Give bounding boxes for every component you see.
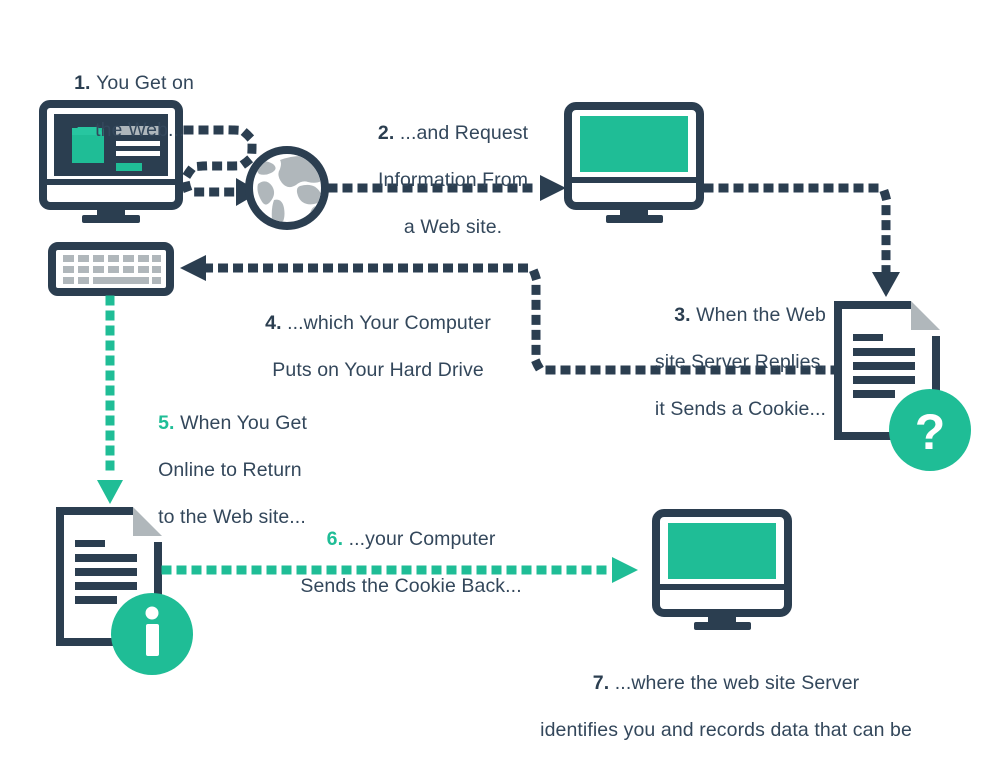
step-2-number: 2. [378,122,400,144]
step-7-number: 7. [593,672,615,694]
keyboard-icon [52,246,170,292]
step-2-line-1: ...and Request [400,122,528,144]
server-monitor-icon-top [568,106,700,223]
step-1-line-1: You Get on [96,72,194,94]
step-6-number: 6. [327,528,349,550]
flow-arrow-5-keyboard-to-cookie [97,300,123,504]
globe-internet-icon [249,150,328,228]
question-badge-label: ? [915,404,946,460]
step-5-number: 5. [158,412,180,434]
cookie-flow-diagram: ? [0,0,1000,762]
step-4-line-1: ...which Your Computer [287,312,491,334]
step-4-line-2: Puts on Your Hard Drive [272,359,484,381]
step-5-line-2: Online to Return [158,459,302,481]
step-7-line-2: identifies you and records data that can… [540,719,912,741]
step-3-line-3: it Sends a Cookie... [655,398,826,420]
step-1-number: 1. [74,72,96,94]
caption-step-6: 6. ...your Computer Sends the Cookie Bac… [250,504,550,622]
step-3-number: 3. [674,304,696,326]
caption-step-2: 2. ...and Request Information From a Web… [340,98,544,263]
step-5-line-1: When You Get [180,412,307,434]
step-6-line-1: ...your Computer [349,528,496,550]
step-4-number: 4. [265,312,287,334]
step-3-line-2: site Server Replies, [655,351,826,373]
step-6-line-2: Sends the Cookie Back... [300,575,521,597]
server-monitor-icon-bottom [656,513,788,630]
question-mark-badge-icon: ? [889,389,971,471]
caption-step-3: 3. When the Web site Server Replies, it … [598,280,826,445]
step-1-line-2: the Web... [74,119,185,141]
caption-step-1: 1. You Get on the Web... [52,48,242,166]
cookie-document-icon-top: ? [838,301,971,471]
step-2-line-3: a Web site. [404,216,502,238]
step-3-line-1: When the Web [696,304,826,326]
info-badge-icon [111,593,193,675]
step-2-line-2: Information From [378,169,528,191]
caption-step-7: 7. ...where the web site Server identifi… [480,648,950,762]
step-7-line-1: ...where the web site Server [615,672,860,694]
